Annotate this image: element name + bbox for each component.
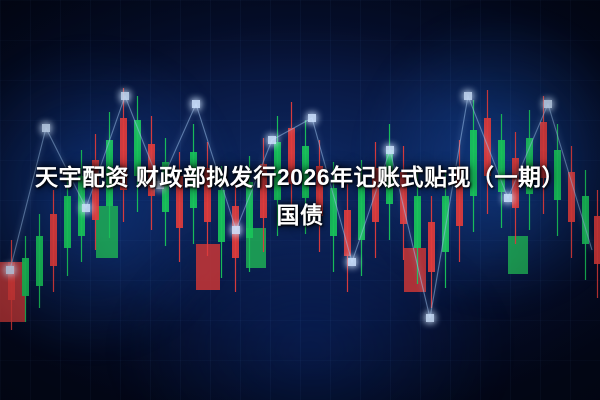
candle-body <box>36 236 43 286</box>
data-point-node <box>386 146 394 154</box>
data-point-node <box>348 258 356 266</box>
data-point-node <box>464 92 472 100</box>
data-point-node <box>268 136 276 144</box>
headline-text: 天宇配资 财政部拟发行2026年记账式贴现（一期）国债 <box>0 158 600 234</box>
data-point-node <box>6 266 14 274</box>
data-point-node <box>426 314 434 322</box>
data-point-node <box>121 92 129 100</box>
data-point-node <box>42 124 50 132</box>
candle-body <box>22 258 29 296</box>
data-point-node <box>308 114 316 122</box>
data-point-node <box>544 100 552 108</box>
data-point-node <box>192 100 200 108</box>
volume-bar <box>508 236 528 274</box>
screenshot-root: 天宇配资 财政部拟发行2026年记账式贴现（一期）国债 <box>0 0 600 400</box>
